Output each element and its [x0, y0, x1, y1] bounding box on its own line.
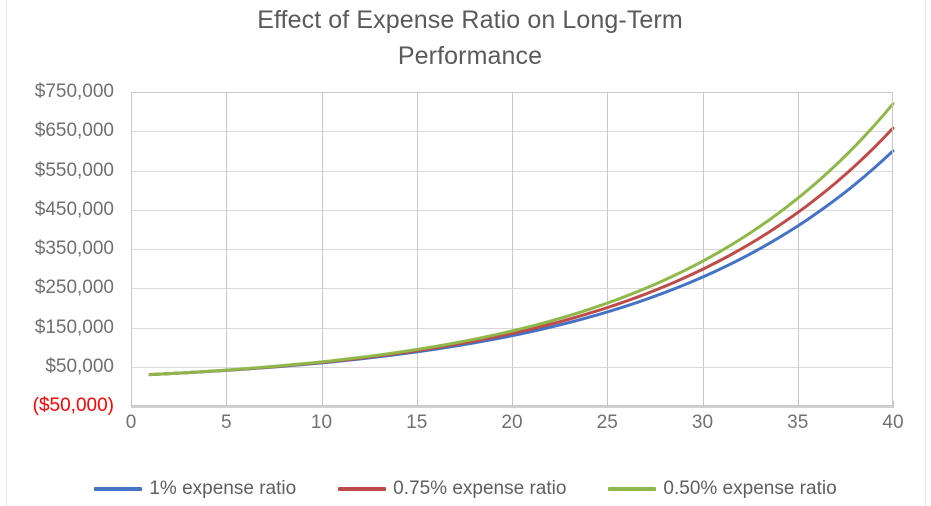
y-axis-tick-label: $250,000: [35, 277, 114, 299]
chart-title: Effect of Expense Ratio on Long-Term Per…: [120, 2, 820, 74]
x-axis-tick-label: 30: [692, 412, 713, 434]
series-line: [150, 151, 893, 375]
y-axis-tick-label: $650,000: [35, 120, 114, 142]
legend-line-swatch-icon: [338, 487, 386, 491]
legend-label: 0.75% expense ratio: [393, 478, 566, 500]
x-axis-tick-mark: [131, 401, 132, 406]
chart-title-line-1: Effect of Expense Ratio on Long-Term: [120, 2, 820, 38]
chart-legend: 1% expense ratio0.75% expense ratio0.50%…: [0, 472, 931, 506]
x-axis-tick-label: 35: [787, 412, 808, 434]
x-axis-tick-mark: [226, 401, 227, 406]
chart-container: Effect of Expense Ratio on Long-Term Per…: [0, 0, 931, 506]
y-axis-tick-label: $450,000: [35, 199, 114, 221]
plot-area: [131, 92, 893, 406]
x-axis-tick-mark: [417, 401, 418, 406]
series-lines: [131, 92, 893, 406]
x-axis-tick-mark: [703, 401, 704, 406]
x-axis-tick-mark: [798, 401, 799, 406]
x-axis-tick-mark: [322, 401, 323, 406]
x-axis-tick-label: 20: [501, 412, 522, 434]
legend-line-swatch-icon: [608, 487, 656, 491]
y-axis-tick-label: $350,000: [35, 238, 114, 260]
x-axis-tick-mark: [512, 401, 513, 406]
series-line: [150, 128, 893, 374]
x-axis-tick-mark: [893, 401, 894, 406]
legend-label: 1% expense ratio: [149, 478, 296, 500]
x-axis-tick-label: 5: [221, 412, 232, 434]
x-axis-tick-label: 40: [882, 412, 903, 434]
x-axis-tick-label: 10: [311, 412, 332, 434]
frame-right-border: [925, 0, 926, 506]
legend-item[interactable]: 0.75% expense ratio: [338, 478, 566, 500]
legend-item[interactable]: 1% expense ratio: [94, 478, 296, 500]
legend-line-swatch-icon: [94, 487, 142, 491]
x-axis-tick-mark: [607, 401, 608, 406]
y-axis-tick-label: $50,000: [45, 356, 114, 378]
x-axis-tick-label: 0: [126, 412, 137, 434]
y-axis-tick-label: ($50,000): [33, 395, 114, 417]
legend-item[interactable]: 0.50% expense ratio: [608, 478, 836, 500]
chart-title-line-2: Performance: [120, 38, 820, 74]
x-axis-ticks: 0510152025303540: [131, 406, 893, 436]
y-axis-labels: $750,000$650,000$550,000$450,000$350,000…: [0, 92, 122, 406]
x-axis-tick-label: 25: [597, 412, 618, 434]
y-axis-tick-label: $550,000: [35, 160, 114, 182]
y-axis-tick-label: $150,000: [35, 317, 114, 339]
y-axis-tick-label: $750,000: [35, 81, 114, 103]
x-axis-tick-label: 15: [406, 412, 427, 434]
legend-label: 0.50% expense ratio: [663, 478, 836, 500]
